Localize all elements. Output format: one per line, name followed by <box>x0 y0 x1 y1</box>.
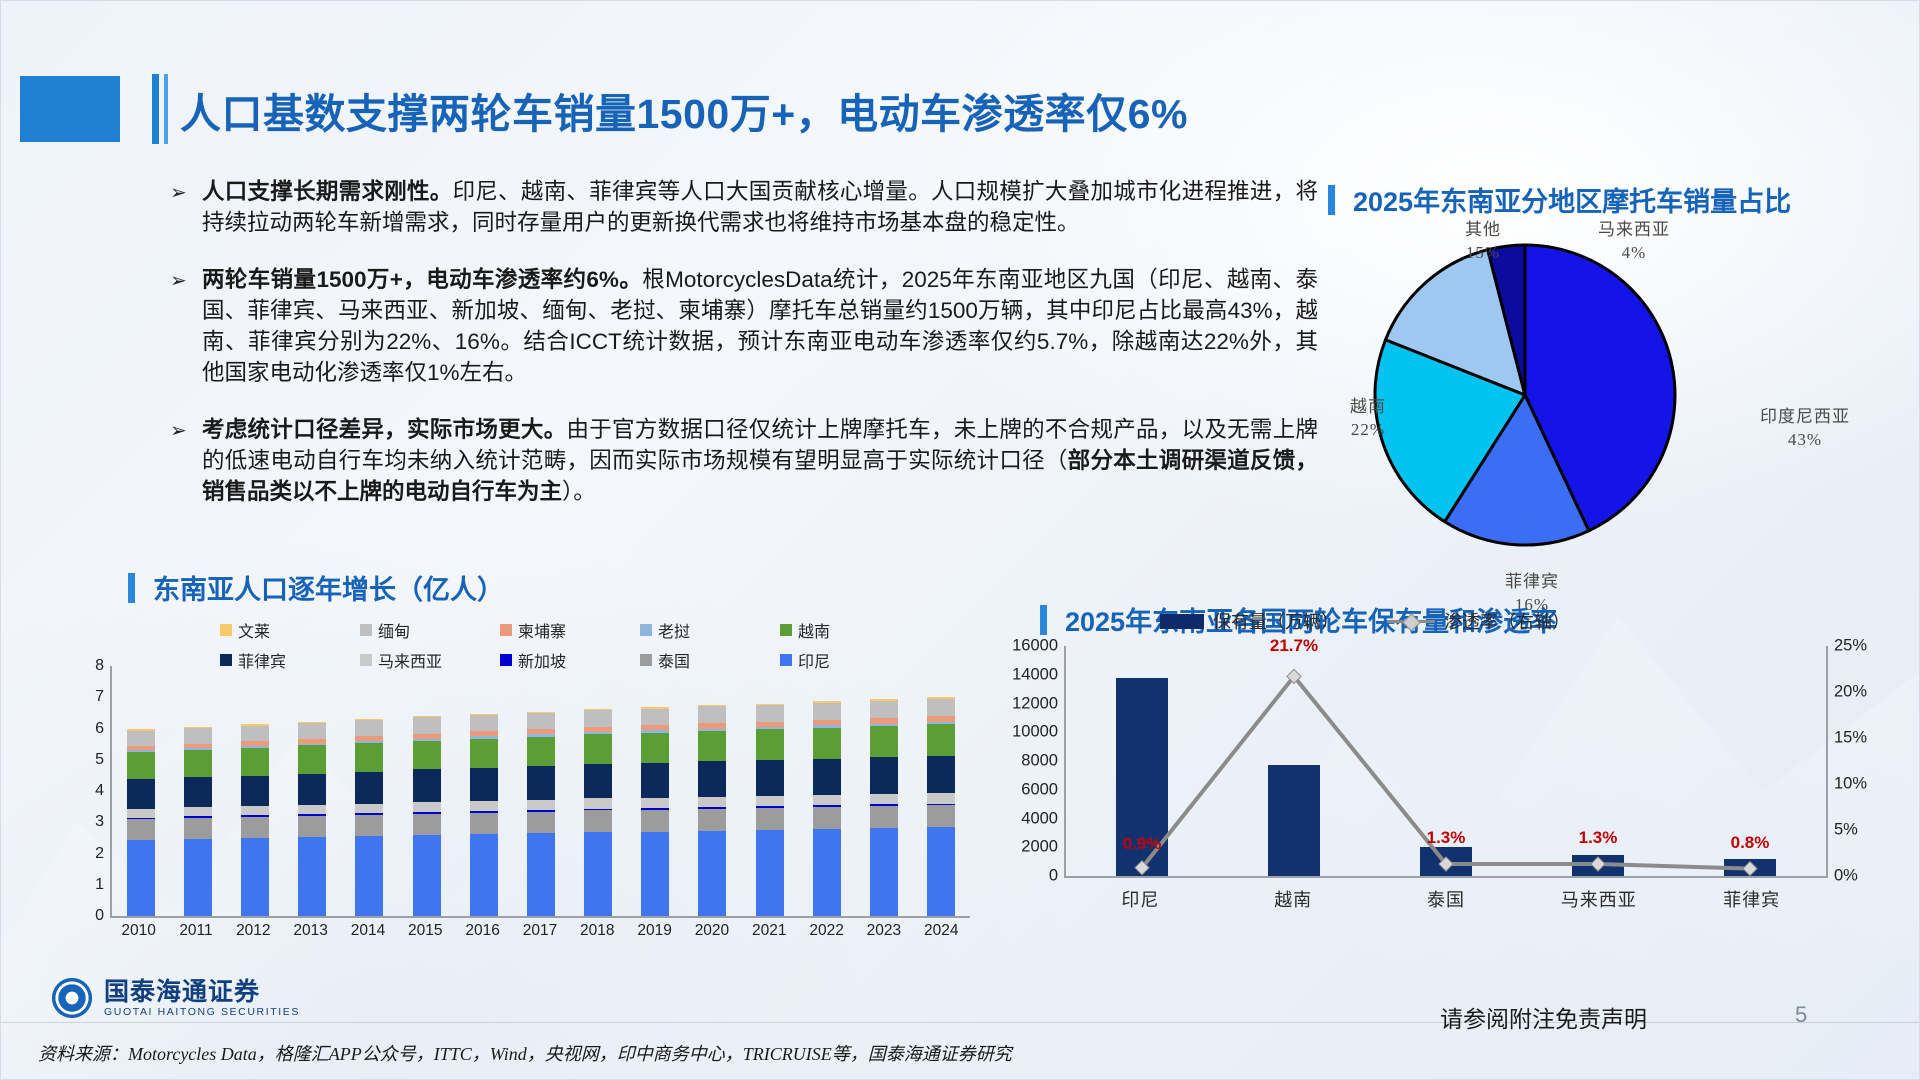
slide-border <box>0 0 1920 1080</box>
slide-root: 人口基数支撑两轮车销量1500万+，电动车渗透率仅6% ➢ 人口支撑长期需求刚性… <box>0 0 1920 1080</box>
